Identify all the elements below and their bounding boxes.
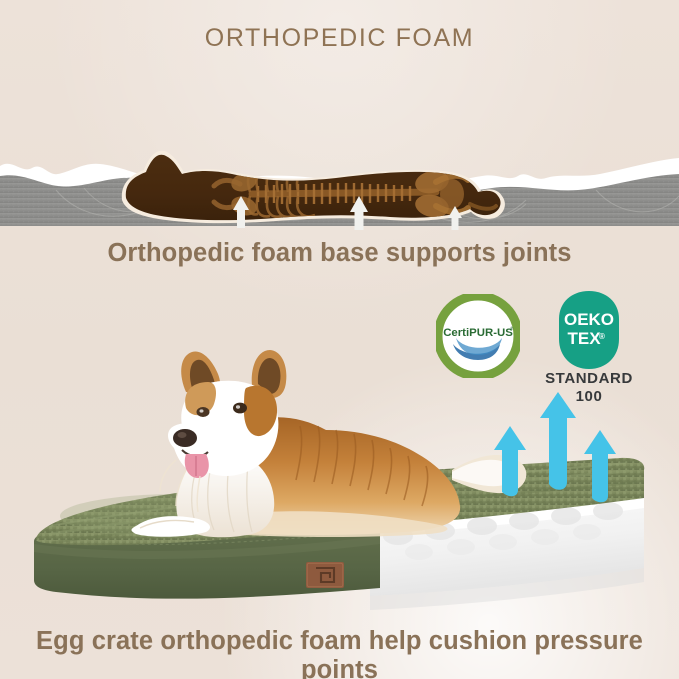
dog-silhouette-top-view bbox=[126, 155, 501, 221]
infographic-page: ORTHOPEDIC FOAM bbox=[0, 0, 679, 679]
product-photo-scene bbox=[0, 330, 679, 630]
airflow-arrows bbox=[494, 392, 616, 502]
oeko-line-1: OEKO bbox=[564, 310, 614, 329]
brand-logo-patch bbox=[306, 562, 344, 588]
caption-egg-crate: Egg crate orthopedic foam help cushion p… bbox=[0, 627, 679, 679]
page-title: ORTHOPEDIC FOAM bbox=[0, 24, 679, 53]
dog-nose bbox=[173, 429, 197, 447]
dog-right-eye bbox=[233, 403, 247, 414]
orthopedic-support-diagram bbox=[0, 78, 679, 230]
caption-orthopedic-base: Orthopedic foam base supports joints bbox=[0, 239, 679, 268]
